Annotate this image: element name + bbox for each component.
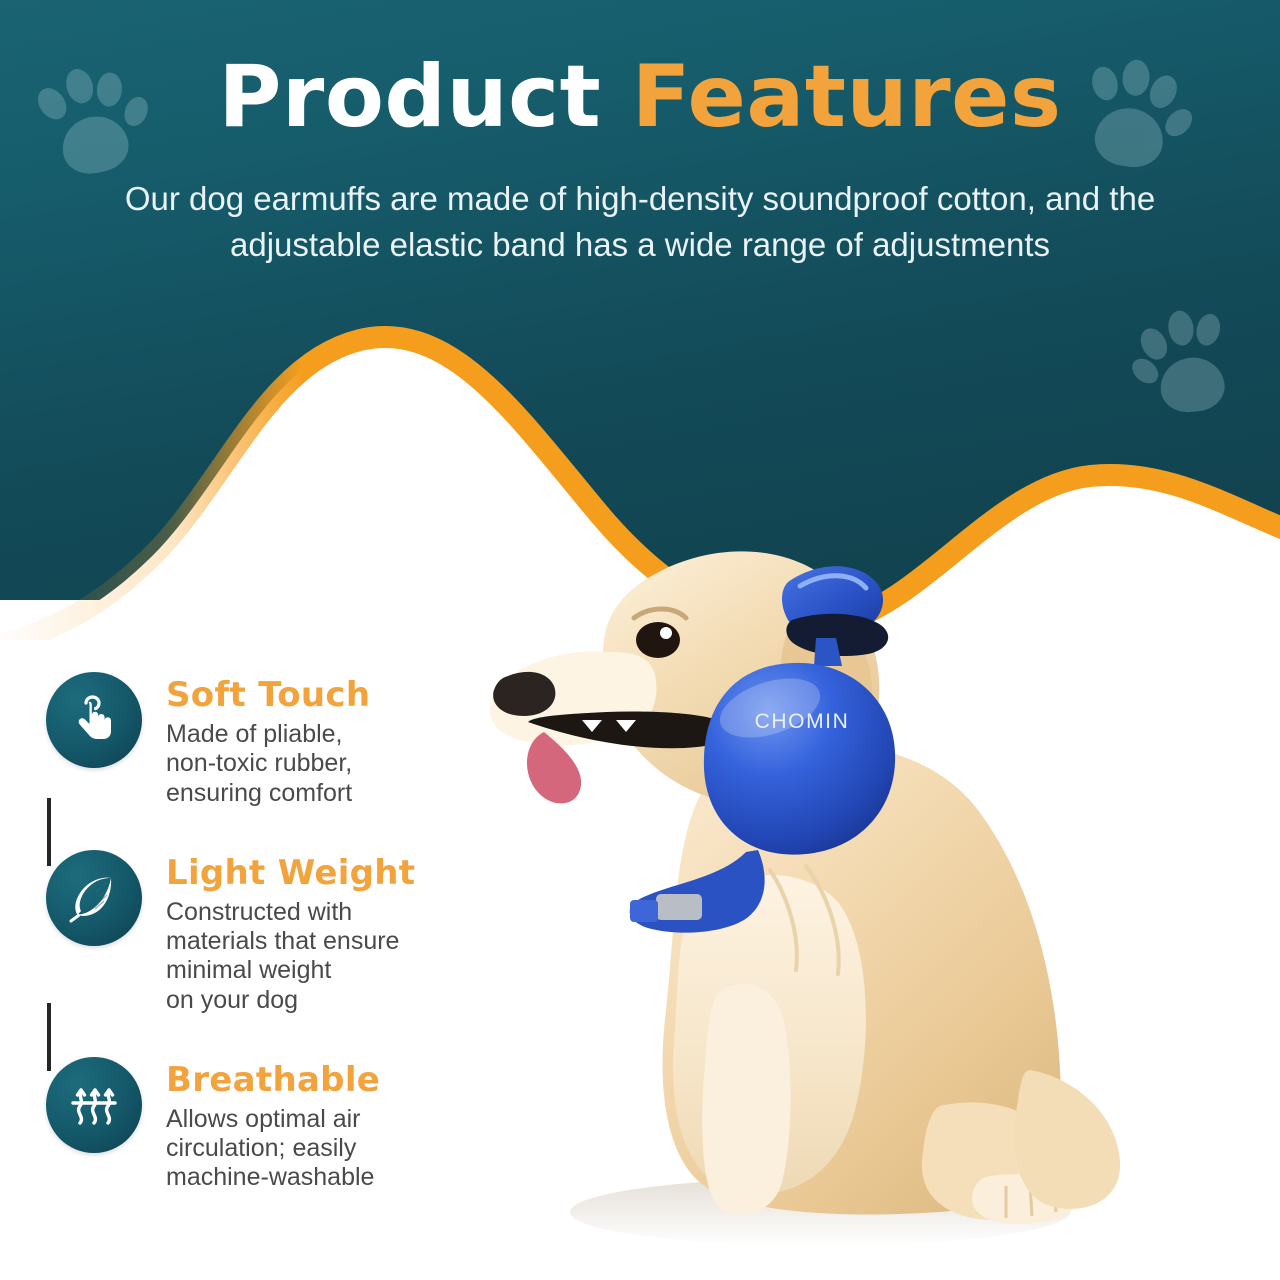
page-title-word-1: Product	[218, 47, 601, 147]
feature-list: Soft Touch Made of pliable, non-toxic ru…	[46, 672, 516, 1193]
page-title: Product Features	[0, 52, 1280, 142]
product-features-infographic: Product Features Our dog earmuffs are ma…	[0, 0, 1280, 1280]
feather-icon	[46, 850, 142, 946]
hand-tap-icon	[46, 672, 142, 768]
dog-illustration: CHOMIN	[470, 470, 1190, 1280]
hand-tap-glyph	[69, 695, 119, 745]
feature-title: Light Weight	[166, 854, 415, 892]
feature-description: Constructed with materials that ensure m…	[166, 898, 415, 1015]
feature-item-breathable: Breathable Allows optimal air circulatio…	[46, 1057, 516, 1193]
dog-front-leg	[702, 984, 790, 1215]
feature-item-soft-touch: Soft Touch Made of pliable, non-toxic ru…	[46, 672, 516, 808]
feature-text-block: Soft Touch Made of pliable, non-toxic ru…	[166, 672, 370, 808]
airflow-icon	[46, 1057, 142, 1153]
page-title-word-2: Features	[632, 47, 1062, 147]
feature-title: Breathable	[166, 1061, 380, 1099]
dog-wearing-earmuffs-photo: CHOMIN	[470, 470, 1190, 1280]
feature-description: Made of pliable, non-toxic rubber, ensur…	[166, 720, 370, 808]
page-subtitle: Our dog earmuffs are made of high-densit…	[60, 176, 1220, 267]
dog-eye-highlight	[660, 627, 672, 639]
feature-text-block: Breathable Allows optimal air circulatio…	[166, 1057, 380, 1193]
airflow-glyph	[68, 1079, 120, 1131]
feature-item-light-weight: Light Weight Constructed with materials …	[46, 850, 516, 1015]
feature-title: Soft Touch	[166, 676, 370, 714]
earmuff-buckle	[656, 894, 702, 920]
dog-eye	[636, 622, 680, 658]
earmuff-strap-end	[630, 900, 658, 922]
feather-glyph	[67, 871, 121, 925]
feature-description: Allows optimal air circulation; easily m…	[166, 1105, 380, 1193]
earmuff-brand-label: CHOMIN	[755, 710, 850, 733]
feature-text-block: Light Weight Constructed with materials …	[166, 850, 415, 1015]
dog-tail	[1014, 1070, 1120, 1209]
